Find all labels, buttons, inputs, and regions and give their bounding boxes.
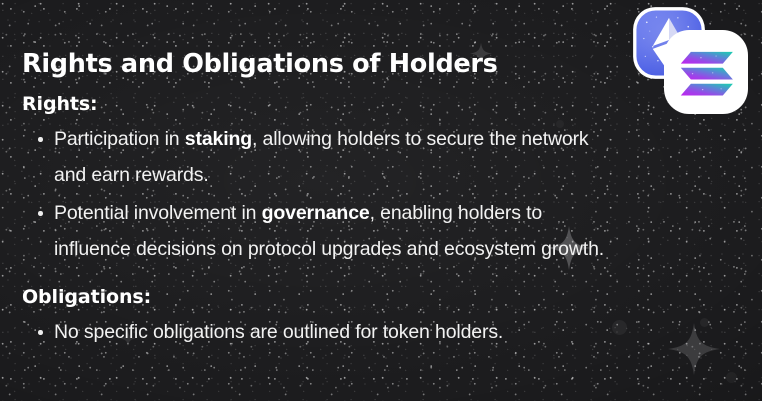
emphasis-text: staking (185, 128, 252, 150)
bokeh-dot (700, 318, 709, 327)
bullet-list: Participation in staking, allowing holde… (22, 121, 620, 267)
section-heading: Rights: (22, 79, 620, 115)
body-text: No specific obligations are outlined for… (54, 321, 503, 343)
sparkle-icon (668, 322, 720, 376)
list-item: Potential involvement in governance, ena… (22, 195, 620, 267)
body-text: Potential involvement in (54, 202, 262, 224)
page-title: Rights and Obligations of Holders (22, 0, 620, 79)
solana-bars-glyph (681, 52, 733, 96)
emphasis-text: governance (262, 202, 370, 224)
logo-cluster (624, 2, 762, 128)
slide-content: Rights and Obligations of Holders Rights… (0, 0, 620, 352)
body-text: Participation in (54, 128, 185, 150)
solana-logo-badge (664, 30, 748, 114)
section-heading: Obligations: (22, 269, 620, 308)
bokeh-dot (726, 372, 737, 383)
sections-container: Rights:Participation in staking, allowin… (22, 79, 620, 350)
bullet-list: No specific obligations are outlined for… (22, 314, 620, 350)
list-item: Participation in staking, allowing holde… (22, 121, 620, 193)
list-item: No specific obligations are outlined for… (22, 314, 620, 350)
slide-canvas: Rights and Obligations of Holders Rights… (0, 0, 762, 401)
